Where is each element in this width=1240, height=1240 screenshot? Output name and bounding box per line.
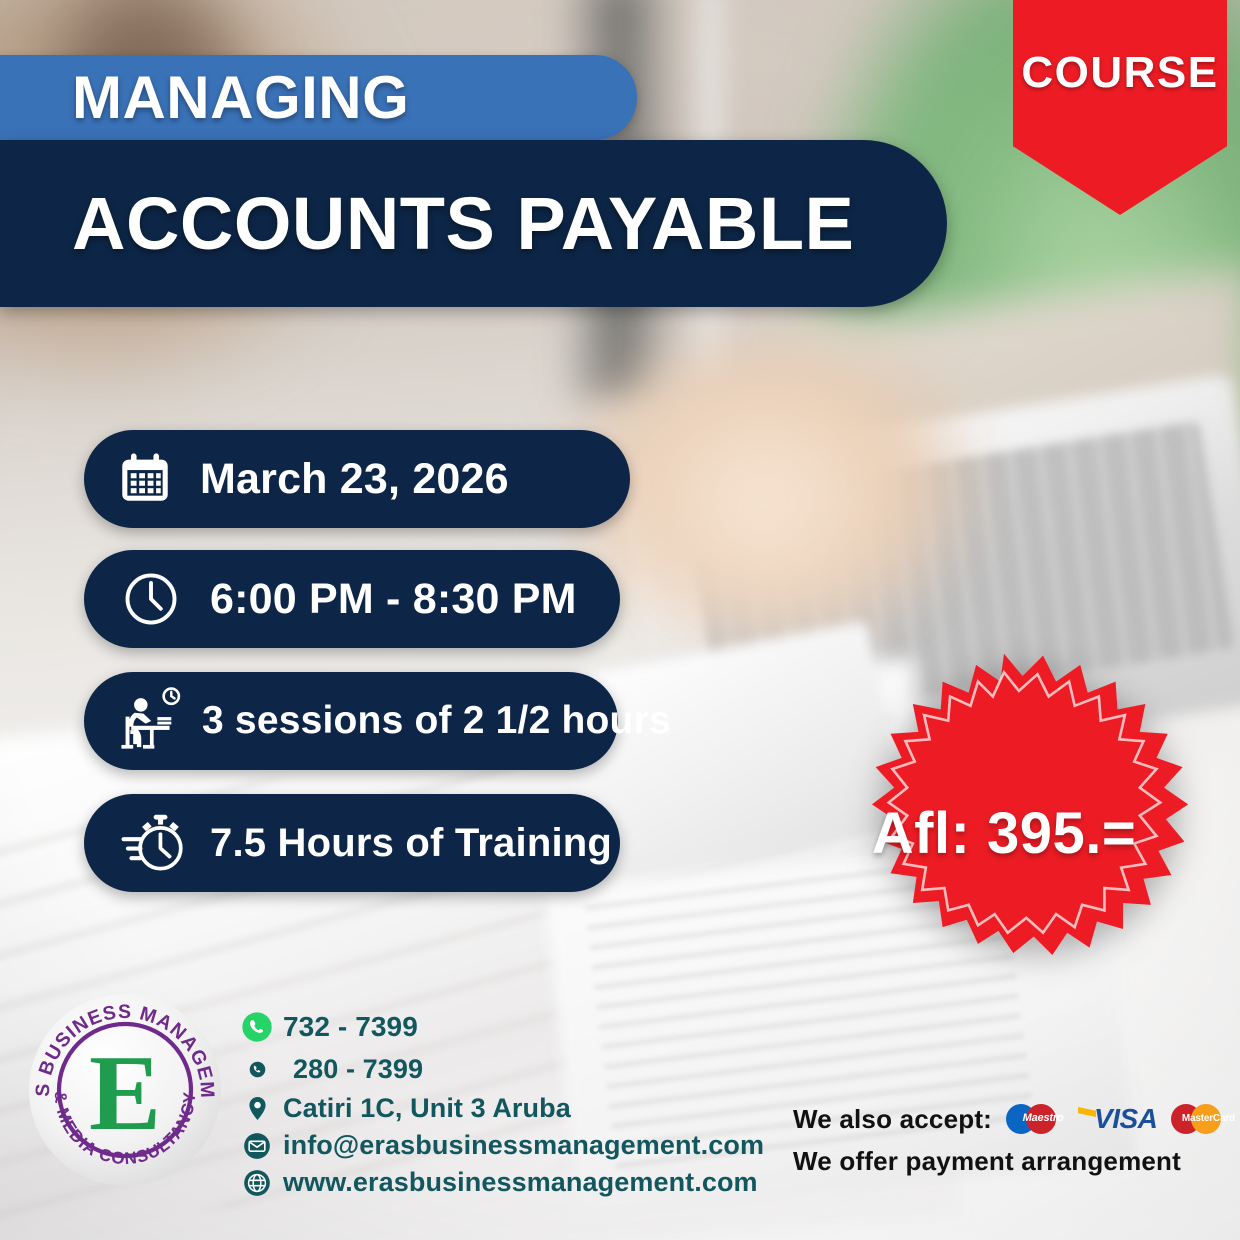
price-label: Afl: 395.= xyxy=(818,650,1190,1022)
detail-pill-sessions: 3 sessions of 2 1/2 hours xyxy=(84,672,618,770)
price-badge: Afl: 395.= xyxy=(818,650,1190,1022)
globe-icon xyxy=(240,1169,274,1197)
phone-icon xyxy=(240,1061,274,1078)
contact-row-email[interactable]: info@erasbusinessmanagement.com xyxy=(240,1127,800,1164)
person-at-desk-icon xyxy=(116,686,190,756)
title-bar-accounts-payable: ACCOUNTS PAYABLE xyxy=(0,140,947,307)
mastercard-label: MasterCard xyxy=(1175,1113,1240,1124)
payment-block: We also accept: Maestro VISA MasterCard … xyxy=(793,1098,1213,1177)
contact-phone-number: 280 - 7399 xyxy=(293,1054,423,1085)
whatsapp-icon xyxy=(240,1011,274,1043)
calendar-icon xyxy=(116,450,174,508)
detail-label-time: 6:00 PM - 8:30 PM xyxy=(210,575,577,624)
title-line-1: MANAGING xyxy=(72,63,409,132)
visa-label: VISA xyxy=(1094,1103,1157,1134)
contact-email: info@erasbusinessmanagement.com xyxy=(283,1130,764,1161)
payment-arrangement-label: We offer payment arrangement xyxy=(793,1146,1213,1177)
location-pin-icon xyxy=(240,1095,274,1122)
contact-row-phone[interactable]: 280 - 7399 xyxy=(240,1048,800,1090)
payment-card-logos: Maestro VISA MasterCard xyxy=(1006,1103,1240,1135)
title-line-2: ACCOUNTS PAYABLE xyxy=(72,181,854,266)
contact-row-whatsapp[interactable]: 732 - 7399 xyxy=(240,1006,800,1048)
contact-address: Catiri 1C, Unit 3 Aruba xyxy=(283,1093,571,1124)
maestro-logo: Maestro xyxy=(1006,1104,1080,1134)
detail-pill-date: March 23, 2026 xyxy=(84,430,630,528)
visa-logo: VISA xyxy=(1094,1103,1157,1135)
detail-label-sessions: 3 sessions of 2 1/2 hours xyxy=(202,699,671,743)
logo-monogram: E xyxy=(89,1034,161,1153)
clock-icon xyxy=(120,568,182,630)
payment-accept-label: We also accept: xyxy=(793,1104,992,1135)
detail-label-date: March 23, 2026 xyxy=(200,455,509,504)
contact-block: 732 - 7399 280 - 7399 Catiri 1C, Unit 3 … xyxy=(240,1006,800,1201)
title-bar-managing: MANAGING xyxy=(0,55,637,140)
payment-accept-row: We also accept: Maestro VISA MasterCard xyxy=(793,1098,1213,1140)
detail-pill-hours: 7.5 Hours of Training xyxy=(84,794,620,892)
course-flyer: COURSE MANAGING ACCOUNTS PAYABLE xyxy=(0,0,1240,1240)
contact-website: www.erasbusinessmanagement.com xyxy=(283,1167,758,1198)
contact-whatsapp-number: 732 - 7399 xyxy=(283,1011,418,1043)
stopwatch-icon xyxy=(118,810,188,876)
detail-pill-time: 6:00 PM - 8:30 PM xyxy=(84,550,620,648)
detail-label-hours: 7.5 Hours of Training xyxy=(210,821,612,866)
mastercard-logo: MasterCard xyxy=(1171,1104,1240,1134)
contact-row-address: Catiri 1C, Unit 3 Aruba xyxy=(240,1090,800,1127)
maestro-label: Maestro xyxy=(1011,1112,1075,1124)
contact-row-website[interactable]: www.erasbusinessmanagement.com xyxy=(240,1164,800,1201)
company-logo: ERAS BUSINESS MANAGEMENT & MEDIA CONSULT… xyxy=(25,990,225,1190)
envelope-icon xyxy=(240,1132,274,1160)
